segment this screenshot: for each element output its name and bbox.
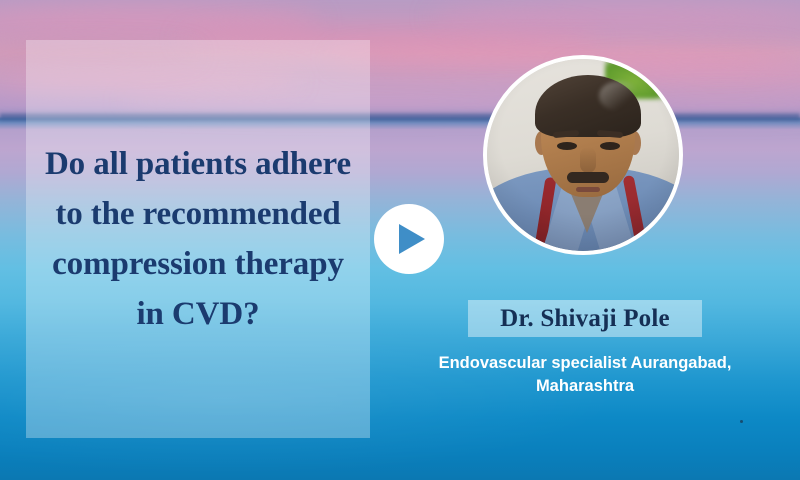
- question-panel: Do all patients adhere to the recommende…: [26, 40, 370, 438]
- speaker-name-band: Dr. Shivaji Pole: [468, 300, 702, 337]
- play-button[interactable]: [374, 204, 444, 274]
- speaker-avatar: [483, 55, 683, 255]
- speaker-credentials: Endovascular specialist Aurangabad, Maha…: [420, 352, 750, 399]
- play-triangle-icon: [399, 224, 425, 254]
- video-thumbnail-card: Do all patients adhere to the recommende…: [0, 0, 800, 480]
- speaker-avatar-image: [487, 59, 679, 251]
- question-text: Do all patients adhere to the recommende…: [40, 139, 356, 340]
- background-speck: [740, 420, 743, 423]
- portrait-vignette: [487, 59, 679, 251]
- speaker-name: Dr. Shivaji Pole: [500, 305, 670, 333]
